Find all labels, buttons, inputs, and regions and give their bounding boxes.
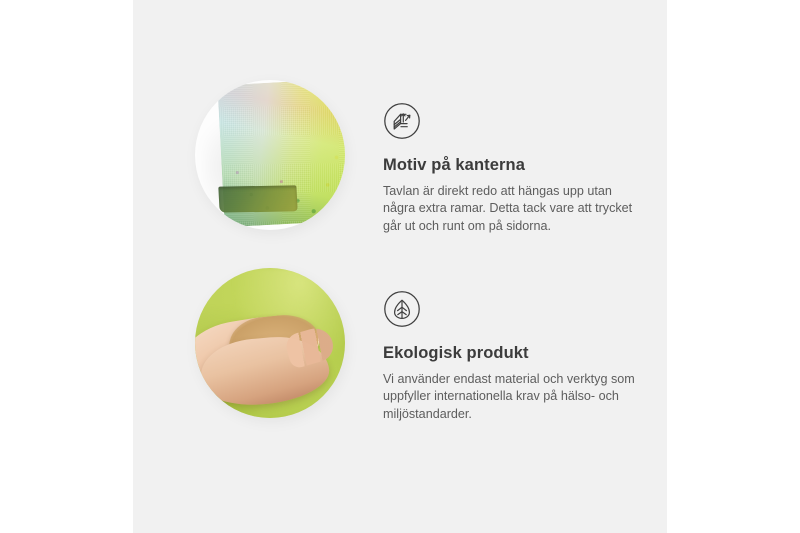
feature-block-ekologisk-produkt: Ekologisk produkt Vi använder endast mat… xyxy=(133,268,667,424)
canvas-wrapped-edges-icon xyxy=(383,102,421,140)
product-info-graphic: Motiv på kanterna Tavlan är direkt redo … xyxy=(0,0,800,533)
leaf-icon xyxy=(383,290,421,328)
canvas-print-corner-photo xyxy=(195,80,345,230)
feature-block-motiv-pa-kanterna: Motiv på kanterna Tavlan är direkt redo … xyxy=(133,80,667,236)
feature-1-copy: Motiv på kanterna Tavlan är direkt redo … xyxy=(383,80,667,236)
feature-2-body: Vi använder endast material och verktyg … xyxy=(383,371,645,424)
feature-1-title: Motiv på kanterna xyxy=(383,156,667,176)
feature-1-photo-wrapper xyxy=(195,80,347,232)
hands-holding-wood-chips-photo xyxy=(195,268,345,418)
feature-2-title: Ekologisk produkt xyxy=(383,344,667,364)
feature-1-body: Tavlan är direkt redo att hängas upp uta… xyxy=(383,183,635,236)
feature-2-copy: Ekologisk produkt Vi använder endast mat… xyxy=(383,268,667,424)
feature-2-photo-wrapper xyxy=(195,268,347,420)
content-panel: Motiv på kanterna Tavlan är direkt redo … xyxy=(133,0,667,533)
canvas-wrapped-side-edge xyxy=(218,185,297,212)
